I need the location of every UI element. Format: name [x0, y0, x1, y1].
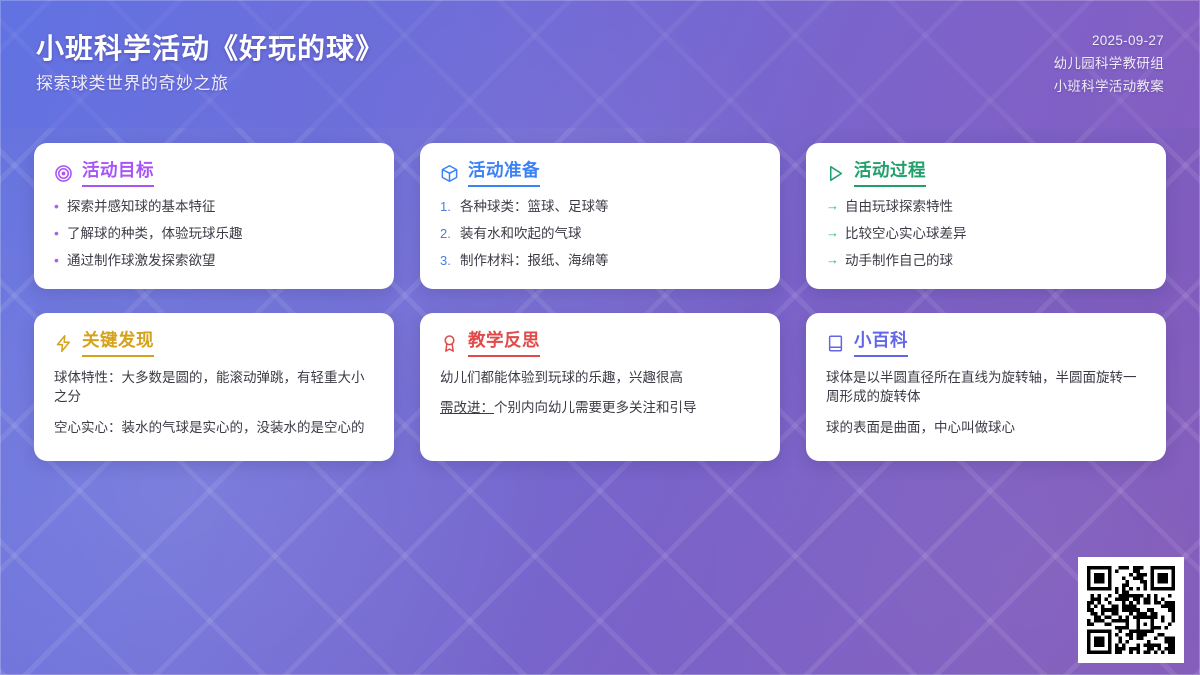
card-header: 活动过程 — [826, 160, 1146, 187]
card-activity-goals[interactable]: 活动目标 探索并感知球的基本特征 了解球的种类，体验玩球乐趣 通过制作球激发探索… — [34, 143, 394, 289]
paragraph-label: 需改进： — [440, 400, 494, 415]
paragraph: 球体特性：大多数是圆的，能滚动弹跳，有轻重大小之分 — [54, 368, 374, 407]
list-item: 自由玩球探索特性 — [826, 198, 1146, 216]
qr-code — [1087, 566, 1175, 654]
medal-award-icon — [440, 334, 459, 353]
preparation-list: 各种球类：篮球、足球等 装有水和吹起的气球 制作材料：报纸、海绵等 — [440, 198, 760, 271]
card-teaching-reflection[interactable]: 教学反思 幼儿们都能体验到玩球的乐趣，兴趣很高 需改进：个别内向幼儿需要更多关注… — [420, 313, 780, 461]
card-header: 关键发现 — [54, 330, 374, 357]
card-header: 活动目标 — [54, 160, 374, 187]
page-title: 小班科学活动《好玩的球》 — [36, 34, 384, 65]
play-triangle-icon — [826, 164, 845, 183]
card-title: 活动准备 — [468, 160, 540, 187]
slide-header: 小班科学活动《好玩的球》 探索球类世界的奇妙之旅 2025-09-27 幼儿园科… — [0, 0, 1200, 128]
card-title: 活动过程 — [854, 160, 926, 187]
process-list: 自由玩球探索特性 比较空心实心球差异 动手制作自己的球 — [826, 198, 1146, 271]
lightning-bolt-icon — [54, 334, 73, 353]
list-item: 了解球的种类，体验玩球乐趣 — [54, 225, 374, 243]
list-item: 动手制作自己的球 — [826, 252, 1146, 270]
paragraph: 球的表面是曲面，中心叫做球心 — [826, 418, 1146, 438]
bullseye-target-icon — [54, 164, 73, 183]
qr-code-container[interactable] — [1078, 557, 1184, 663]
paragraph-with-label: 需改进：个别内向幼儿需要更多关注和引导 — [440, 398, 760, 418]
card-body: 球体是以半圆直径所在直线为旋转轴，半圆面旋转一周形成的旋转体 球的表面是曲面，中… — [826, 368, 1146, 438]
list-item: 各种球类：篮球、足球等 — [440, 198, 760, 216]
card-key-findings[interactable]: 关键发现 球体特性：大多数是圆的，能滚动弹跳，有轻重大小之分 空心实心：装水的气… — [34, 313, 394, 461]
book-icon — [826, 334, 845, 353]
paragraph-text: 个别内向幼儿需要更多关注和引导 — [494, 400, 697, 415]
list-item: 装有水和吹起的气球 — [440, 225, 760, 243]
card-header: 小百科 — [826, 330, 1146, 357]
page-subtitle: 探索球类世界的奇妙之旅 — [36, 75, 384, 94]
list-item: 比较空心实心球差异 — [826, 225, 1146, 243]
card-body: 幼儿们都能体验到玩球的乐趣，兴趣很高 需改进：个别内向幼儿需要更多关注和引导 — [440, 368, 760, 418]
goal-list: 探索并感知球的基本特征 了解球的种类，体验玩球乐趣 通过制作球激发探索欲望 — [54, 198, 374, 271]
paragraph: 空心实心：装水的气球是实心的，没装水的是空心的 — [54, 418, 374, 438]
card-encyclopedia[interactable]: 小百科 球体是以半圆直径所在直线为旋转轴，半圆面旋转一周形成的旋转体 球的表面是… — [806, 313, 1166, 461]
meta-date: 2025-09-27 — [1092, 32, 1164, 50]
list-item: 通过制作球激发探索欲望 — [54, 252, 374, 270]
card-title: 教学反思 — [468, 330, 540, 357]
card-header: 活动准备 — [440, 160, 760, 187]
card-title: 活动目标 — [82, 160, 154, 187]
list-item: 制作材料：报纸、海绵等 — [440, 252, 760, 270]
slide-canvas: 小班科学活动《好玩的球》 探索球类世界的奇妙之旅 2025-09-27 幼儿园科… — [0, 0, 1200, 675]
paragraph: 幼儿们都能体验到玩球的乐趣，兴趣很高 — [440, 368, 760, 388]
meta-organization: 幼儿园科学教研组 — [1054, 55, 1164, 73]
card-body: 自由玩球探索特性 比较空心实心球差异 动手制作自己的球 — [826, 198, 1146, 271]
card-title: 关键发现 — [82, 330, 154, 357]
card-body: 球体特性：大多数是圆的，能滚动弹跳，有轻重大小之分 空心实心：装水的气球是实心的… — [54, 368, 374, 438]
card-activity-process[interactable]: 活动过程 自由玩球探索特性 比较空心实心球差异 动手制作自己的球 — [806, 143, 1166, 289]
cube-box-icon — [440, 164, 459, 183]
card-activity-preparation[interactable]: 活动准备 各种球类：篮球、足球等 装有水和吹起的气球 制作材料：报纸、海绵等 — [420, 143, 780, 289]
paragraph: 球体是以半圆直径所在直线为旋转轴，半圆面旋转一周形成的旋转体 — [826, 368, 1146, 407]
card-body: 探索并感知球的基本特征 了解球的种类，体验玩球乐趣 通过制作球激发探索欲望 — [54, 198, 374, 271]
meta-doc-type: 小班科学活动教案 — [1054, 78, 1164, 96]
card-title: 小百科 — [854, 330, 908, 357]
list-item: 探索并感知球的基本特征 — [54, 198, 374, 216]
card-grid: 活动目标 探索并感知球的基本特征 了解球的种类，体验玩球乐趣 通过制作球激发探索… — [34, 143, 1166, 461]
header-meta-group: 2025-09-27 幼儿园科学教研组 小班科学活动教案 — [1054, 32, 1164, 97]
header-title-group: 小班科学活动《好玩的球》 探索球类世界的奇妙之旅 — [36, 34, 384, 93]
card-body: 各种球类：篮球、足球等 装有水和吹起的气球 制作材料：报纸、海绵等 — [440, 198, 760, 271]
card-header: 教学反思 — [440, 330, 760, 357]
